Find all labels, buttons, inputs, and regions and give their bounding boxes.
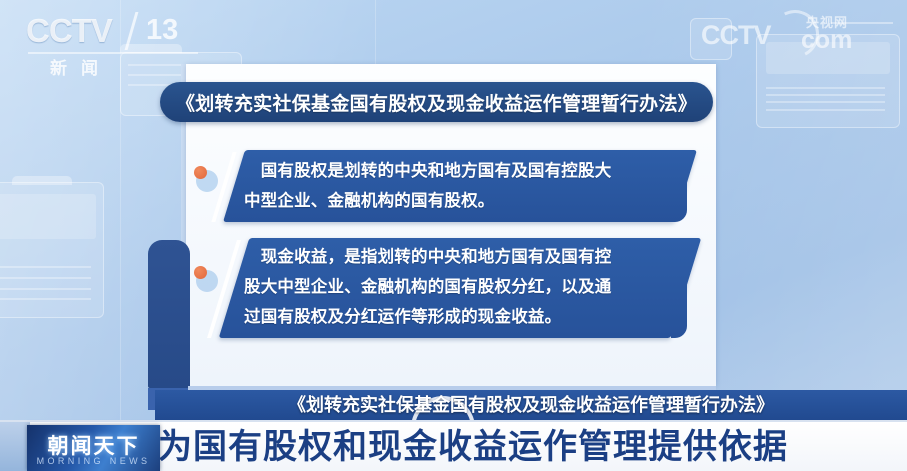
lower-third-headline: 为国有股权和现金收益运作管理提供依据 [158,422,788,471]
bullet-text-line: 股大中型企业、金融机构的国有股权分红，以及通 [244,272,684,302]
watermark-brand: CCTV [701,20,771,51]
cctv-com-watermark: CCTV com 央视网 [701,12,891,52]
panel-side-bar [148,240,190,388]
bullet-text-line: 中型企业、金融机构的国有股权。 [244,186,684,216]
ghost-document-card [0,182,104,318]
bullet-dot-icon [194,266,207,279]
slide-title: 《划转充实社保基金国有股权及现金收益运作管理暂行办法》 [176,89,697,116]
lower-third-subtitle-band: 《划转充实社保基金国有股权及现金收益运作管理暂行办法》 [155,390,907,420]
cctv-logo-slash-icon [125,12,139,50]
cctv-channel-name: 新闻 [50,54,112,79]
bullet-dot-icon [194,166,207,179]
bullet-text-line: 现金收益，是指划转的中央和地方国有及国有控 [244,242,684,272]
lower-third-subtitle: 《划转充实社保基金国有股权及现金收益运作管理暂行办法》 [155,390,907,420]
program-logo: 朝闻天下 MORNING NEWS [27,425,160,471]
headline-band-left-cap [0,422,30,471]
watermark-rule [831,22,893,24]
cctv-channel-number: 13 [146,14,178,47]
cctv-logo-text: CCTV [26,12,112,50]
bullet-text-line: 过国有股权及分红运作等形成的现金收益。 [244,302,684,332]
slide-title-pill: 《划转充实社保基金国有股权及现金收益运作管理暂行办法》 [160,82,713,122]
bullet-text-line: 国有股权是划转的中央和地方国有及国有控股大 [244,156,684,186]
broadcast-screen: CCTV 13 新闻 CCTV com 央视网 《划转充实社保基金国有股权及现金… [0,0,907,471]
bullet-text: 现金收益，是指划转的中央和地方国有及国有控 股大中型企业、金融机构的国有股权分红… [244,242,684,332]
program-name-en: MORNING NEWS [27,456,160,466]
bullet-text: 国有股权是划转的中央和地方国有及国有控股大 中型企业、金融机构的国有股权。 [244,156,684,216]
